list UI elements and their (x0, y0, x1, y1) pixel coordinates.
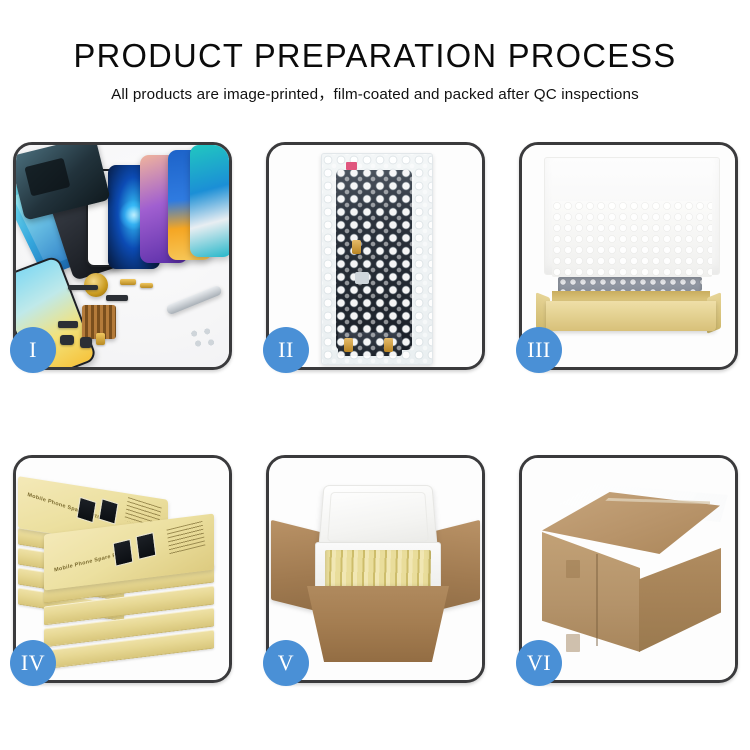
page-subtitle: All products are image-printed，film-coat… (0, 85, 750, 105)
step-badge-4: IV (10, 640, 56, 686)
chip-part-icon (96, 333, 105, 345)
page-title: PRODUCT PREPARATION PROCESS (4, 36, 747, 76)
gold-tab-icon-1 (352, 240, 361, 254)
pink-label-icon (346, 162, 357, 170)
foam-sheet-icon (552, 201, 712, 277)
foam-cooler-lid-icon (318, 485, 438, 550)
flex-cable-icon (356, 254, 372, 344)
box-front-panel-icon (546, 301, 716, 331)
step-badge-6: VI (516, 640, 562, 686)
gold-tab-icon-3 (384, 338, 393, 352)
gold-tab-icon-2 (344, 338, 353, 352)
process-steps-grid: I II (13, 142, 737, 683)
gold-button-part-icon (120, 279, 136, 285)
box-spec-lines-2 (167, 521, 206, 555)
carton-body-icon (307, 586, 449, 662)
step-badge-1: I (10, 327, 56, 373)
step-panel-2[interactable]: II (266, 142, 485, 370)
gold-flex-part-icon (140, 283, 153, 288)
step-badge-5: V (263, 640, 309, 686)
step-panel-4[interactable]: Mobile Phone Spare Parts Mobile Phone Sp… (13, 455, 232, 683)
step-badge-3: III (516, 327, 562, 373)
step-panel-1[interactable]: I (13, 142, 232, 370)
step-panel-3[interactable]: III (519, 142, 738, 370)
box-screen-thumb-1b (98, 498, 118, 525)
product-preparation-infographic: PRODUCT PREPARATION PROCESS All products… (0, 0, 750, 750)
carton-edge-seam-icon (596, 554, 598, 646)
step-badge-2: II (263, 327, 309, 373)
header: PRODUCT PREPARATION PROCESS All products… (0, 0, 750, 105)
carton-tab-icon-1 (566, 560, 580, 578)
speaker-part-icon (60, 335, 74, 345)
packed-retail-boxes-icon (325, 550, 431, 590)
carton-left-face-icon (542, 532, 640, 652)
box-screen-thumb-1a (76, 497, 96, 524)
carton-tab-icon-2 (566, 634, 580, 652)
box-screen-thumb-2b (136, 532, 157, 560)
camera-flex-part-icon (58, 321, 78, 328)
ic-chip-icon (355, 272, 369, 284)
antenna-flex-part-icon (106, 295, 128, 301)
step-panel-5[interactable]: V (266, 455, 485, 683)
vibrator-part-icon (80, 337, 92, 348)
lcd-screen-icon (336, 170, 412, 350)
carton-right-face-icon (639, 548, 721, 652)
ribbon-part-icon (68, 285, 98, 290)
tweezers-icon (165, 285, 223, 316)
box-screen-thumb-2a (113, 539, 134, 567)
screws-icon (189, 327, 215, 349)
step-panel-6[interactable]: VI (519, 455, 738, 683)
phone-green-icon (190, 145, 229, 257)
bubble-wrap-bag-icon (321, 153, 433, 365)
